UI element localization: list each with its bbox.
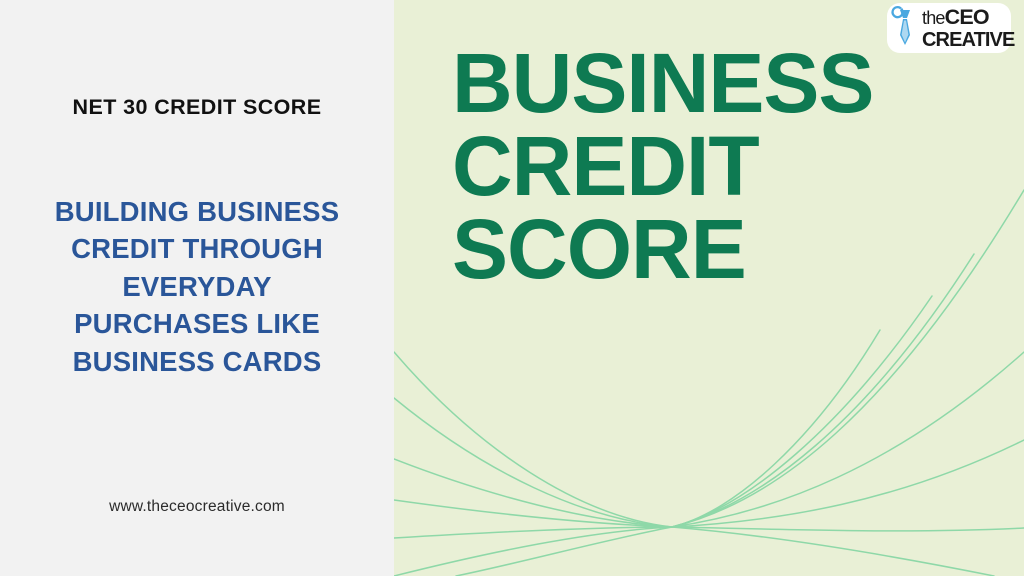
headline-line-1: BUILDING BUSINESS [12, 193, 382, 230]
slide-canvas: NET 30 CREDIT SCORE BUILDING BUSINESS CR… [0, 0, 1024, 576]
logo-wordmark: theCEO CREATIVE [922, 7, 1010, 50]
right-panel: BUSINESS CREDIT SCORE [394, 0, 1024, 576]
left-panel: NET 30 CREDIT SCORE BUILDING BUSINESS CR… [0, 0, 394, 576]
headline-line-5: BUSINESS CARDS [12, 343, 382, 380]
website-url[interactable]: www.theceocreative.com [0, 498, 394, 516]
logo-word-ceo: CEO [945, 5, 989, 29]
title-line-1: BUSINESS [452, 42, 873, 125]
logo[interactable]: theCEO CREATIVE [886, 2, 1012, 54]
headline-blue: BUILDING BUSINESS CREDIT THROUGH EVERYDA… [12, 193, 382, 380]
headline-line-2: CREDIT THROUGH [12, 230, 382, 267]
eyebrow-label: NET 30 CREDIT SCORE [0, 95, 394, 121]
logo-row-top: theCEO [922, 7, 1010, 29]
title-line-2: CREDIT [452, 125, 873, 208]
logo-word-creative: CREATIVE [922, 30, 1010, 50]
headline-line-4: PURCHASES LIKE [12, 305, 382, 342]
logo-word-the: the [922, 8, 945, 28]
title-line-3: SCORE [452, 208, 873, 291]
headline-line-3: EVERYDAY [12, 268, 382, 305]
title-green: BUSINESS CREDIT SCORE [452, 42, 873, 291]
